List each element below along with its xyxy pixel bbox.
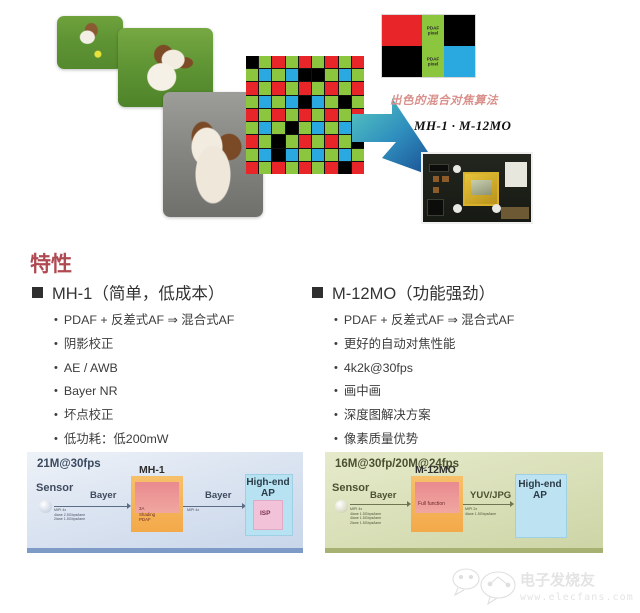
column-title: M-12MO（功能强劲） (332, 280, 495, 304)
bayer-pixel (312, 109, 324, 121)
sensor-label: Sensor (36, 482, 73, 494)
list-item: •画中画 (334, 384, 622, 398)
list-item-label: PDAF + 反差式AF ⇒ 混合式AF (344, 313, 514, 327)
bullet-dot-icon: • (334, 384, 338, 398)
bayer-pixel (312, 122, 324, 134)
bayer-pixel (339, 109, 351, 121)
ap-label: High-end AP (245, 477, 291, 499)
feature-list: •PDAF + 反差式AF ⇒ 混合式AF •阴影校正 •AE / AWB •B… (32, 313, 322, 446)
pcb-slot (501, 207, 529, 219)
list-item-label: PDAF + 反差式AF ⇒ 混合式AF (64, 313, 234, 327)
bayer-pixel (312, 69, 324, 81)
bayer-pixel (299, 82, 311, 94)
bayer-pixel (325, 135, 337, 147)
feature-column-m12mo: M-12MO（功能强劲） •PDAF + 反差式AF ⇒ 混合式AF •更好的自… (312, 280, 622, 456)
flow-line (54, 506, 127, 507)
bayer-pixel (259, 135, 271, 147)
lens-icon (39, 500, 52, 513)
chip-die (471, 180, 492, 195)
flow-line (183, 506, 242, 507)
bullet-dot-icon: • (334, 432, 338, 446)
column-title-row: M-12MO（功能强劲） (312, 280, 622, 304)
watermark-url: www.elecfans.com (520, 592, 634, 603)
dog-photo-small (57, 16, 123, 69)
block-diagram-mh1: 21M@30fps Sensor MIPI 4x 4lane 2.5Gbps/l… (27, 452, 303, 553)
chip-socket (463, 172, 499, 206)
legend-label-pdaf-bottom: PDAF pixel (423, 56, 443, 67)
bullet-dot-icon: • (334, 408, 338, 422)
bayer-pixel (352, 56, 364, 68)
processor-functions: Full function (418, 502, 445, 508)
legend-cell-green-top: PDAF pixel (422, 15, 444, 46)
list-item: •4k2k@30fps (334, 361, 622, 375)
list-item-label: 像素质量优势 (344, 432, 418, 446)
list-item: •深度图解决方案 (334, 408, 622, 422)
pcb-capacitor (433, 187, 439, 193)
processor-label: M-12MO (415, 464, 456, 476)
bayer-pixel (325, 162, 337, 174)
pdaf-legend: PDAF pixel PDAF pixel (381, 14, 476, 78)
bullet-dot-icon: • (334, 361, 338, 375)
ap-label: High-end AP (515, 479, 565, 501)
chip-board-photo (421, 152, 533, 224)
bayer-pixel (272, 96, 284, 108)
bayer-pixel (286, 82, 298, 94)
bayer-pixel (246, 69, 258, 81)
bayer-pixel (339, 69, 351, 81)
list-item-label: 4k2k@30fps (344, 361, 413, 375)
bayer-pixel (339, 135, 351, 147)
feature-list: •PDAF + 反差式AF ⇒ 混合式AF •更好的自动对焦性能 •4k2k@3… (312, 313, 622, 446)
legend-cell-green-bottom: PDAF pixel (422, 46, 444, 77)
pcb-component (427, 199, 444, 216)
bayer-pixel (299, 122, 311, 134)
bayer-pixel (259, 109, 271, 121)
block-diagram-m12mo: 16M@30fp/20M@24fps Sensor MIPI 4x 4lane … (325, 452, 603, 553)
processor-box: Full function (411, 476, 463, 532)
bayer-pixel (259, 149, 271, 161)
bayer-mosaic-grid (246, 56, 364, 174)
column-title: MH-1（简单，低成本） (52, 280, 224, 304)
list-item: •AE / AWB (54, 361, 322, 375)
pcb-connector (505, 162, 527, 186)
chip-caption: MH-1 · M-12MO (414, 118, 511, 134)
bayer-pixel (286, 69, 298, 81)
bayer-pixel (272, 135, 284, 147)
legend-label-pdaf-top: PDAF pixel (423, 25, 443, 36)
list-item-label: 更好的自动对焦性能 (344, 337, 456, 351)
page-title: 特性 (30, 248, 72, 278)
bayer-pixel (312, 162, 324, 174)
bayer-pixel (299, 162, 311, 174)
list-item: •PDAF + 反差式AF ⇒ 混合式AF (54, 313, 322, 327)
bayer-pixel (286, 122, 298, 134)
watermark: 电子发烧友 www.elecfans.com (446, 563, 634, 607)
legend-cell-blue (444, 46, 475, 77)
bullet-dot-icon: • (334, 337, 338, 351)
flow-in-label: Bayer (90, 490, 116, 501)
bayer-pixel (299, 69, 311, 81)
sensor-spec: MIPI 4x 4lane 2.5Gbps/lane 2lane 1.5Gbps… (54, 508, 85, 522)
bayer-pixel (312, 149, 324, 161)
bayer-pixel (286, 56, 298, 68)
legend-cell-black-top (444, 15, 475, 46)
bayer-pixel (286, 135, 298, 147)
diagram-title: 21M@30fps (37, 458, 101, 470)
flow-out-spec: MIPI 2x 4lane 1.5Gbps/lane (465, 507, 496, 516)
bayer-pixel (299, 135, 311, 147)
bayer-pixel (339, 96, 351, 108)
bayer-pixel (272, 149, 284, 161)
bayer-pixel (246, 162, 258, 174)
sensor-label: Sensor (332, 482, 369, 494)
list-item: •阴影校正 (54, 337, 322, 351)
bayer-pixel (259, 122, 271, 134)
list-item: •Bayer NR (54, 384, 322, 398)
bayer-pixel (246, 109, 258, 121)
bayer-pixel (339, 162, 351, 174)
bayer-pixel (339, 82, 351, 94)
bayer-pixel (259, 69, 271, 81)
processor-box: 3A Shading PDAF (131, 476, 183, 532)
bayer-pixel (352, 69, 364, 81)
bayer-pixel (325, 149, 337, 161)
list-item-label: 阴影校正 (64, 337, 114, 351)
bayer-pixel (312, 56, 324, 68)
bayer-pixel (325, 82, 337, 94)
bayer-pixel (299, 56, 311, 68)
list-item: •PDAF + 反差式AF ⇒ 混合式AF (334, 313, 622, 327)
bayer-pixel (246, 82, 258, 94)
flow-line (463, 504, 510, 505)
bayer-pixel (272, 162, 284, 174)
pcb-capacitor (433, 176, 439, 182)
flow-arrow-icon (510, 501, 514, 507)
bayer-pixel (272, 122, 284, 134)
bayer-pixel (272, 56, 284, 68)
bayer-pixel (246, 96, 258, 108)
bayer-pixel (312, 135, 324, 147)
slogan-text: 出色的混合对焦算法 (390, 92, 498, 108)
bullet-dot-icon: • (54, 408, 58, 422)
processor-functions: 3A Shading PDAF (139, 506, 155, 523)
bayer-pixel (246, 56, 258, 68)
bayer-pixel (299, 96, 311, 108)
bullet-square-icon (32, 287, 43, 298)
bayer-pixel (325, 96, 337, 108)
isp-label: ISP (260, 510, 270, 517)
bayer-pixel (339, 56, 351, 68)
flow-out-label: Bayer (205, 490, 231, 501)
feature-column-mh1: MH-1（简单，低成本） •PDAF + 反差式AF ⇒ 混合式AF •阴影校正… (32, 280, 322, 456)
bullet-dot-icon: • (54, 337, 58, 351)
legend-cell-black-bottom (382, 46, 422, 77)
list-item-label: 坏点校正 (64, 408, 114, 422)
bayer-pixel (325, 109, 337, 121)
bayer-pixel (259, 162, 271, 174)
legend-cell-red (382, 15, 422, 46)
bullet-dot-icon: • (54, 384, 58, 398)
bayer-pixel (272, 69, 284, 81)
bayer-pixel (259, 96, 271, 108)
bayer-pixel (352, 82, 364, 94)
photo-image (57, 16, 123, 69)
processor-label: MH-1 (139, 464, 165, 476)
bayer-pixel (299, 149, 311, 161)
pcb-capacitor (442, 176, 448, 182)
bullet-dot-icon: • (334, 313, 338, 327)
bayer-pixel (246, 135, 258, 147)
bayer-pixel (259, 82, 271, 94)
lens-icon (335, 500, 348, 513)
processor-inner (415, 482, 459, 513)
bullet-dot-icon: • (54, 313, 58, 327)
bullet-square-icon (312, 287, 323, 298)
list-item-label: AE / AWB (64, 361, 118, 375)
bayer-pixel (286, 96, 298, 108)
list-item: •更好的自动对焦性能 (334, 337, 622, 351)
list-item-label: 低功耗：低200mW (64, 432, 169, 446)
bayer-pixel (325, 56, 337, 68)
bayer-pixel (312, 82, 324, 94)
sensor-spec: MIPI 4x 4lane 1.5Gbps/lane 4lane 1.5Gbps… (350, 507, 381, 525)
bullet-dot-icon: • (54, 361, 58, 375)
flow-out-spec: MIPI 4x (187, 508, 199, 513)
flow-line (350, 504, 407, 505)
bayer-pixel (259, 56, 271, 68)
bullet-dot-icon: • (54, 432, 58, 446)
bayer-pixel (246, 149, 258, 161)
column-title-row: MH-1（简单，低成本） (32, 280, 322, 304)
bayer-pixel (286, 149, 298, 161)
bayer-pixel (299, 109, 311, 121)
list-item: •像素质量优势 (334, 432, 622, 446)
bayer-pixel (286, 109, 298, 121)
list-item-label: 深度图解决方案 (344, 408, 431, 422)
flow-in-label: Bayer (370, 490, 396, 501)
list-item: •坏点校正 (54, 408, 322, 422)
list-item: •低功耗：低200mW (54, 432, 322, 446)
bayer-pixel (339, 149, 351, 161)
bayer-pixel (272, 82, 284, 94)
bayer-pixel (325, 69, 337, 81)
bayer-pixel (246, 122, 258, 134)
watermark-brand: 电子发烧友 (520, 571, 595, 589)
bayer-pixel (325, 122, 337, 134)
bayer-pixel (339, 122, 351, 134)
list-item-label: 画中画 (344, 384, 381, 398)
flow-out-label: YUV/JPG (470, 490, 511, 501)
bayer-pixel (272, 109, 284, 121)
pcb-component (429, 164, 448, 173)
bayer-pixel (312, 96, 324, 108)
bayer-pixel (286, 162, 298, 174)
list-item-label: Bayer NR (64, 384, 118, 398)
